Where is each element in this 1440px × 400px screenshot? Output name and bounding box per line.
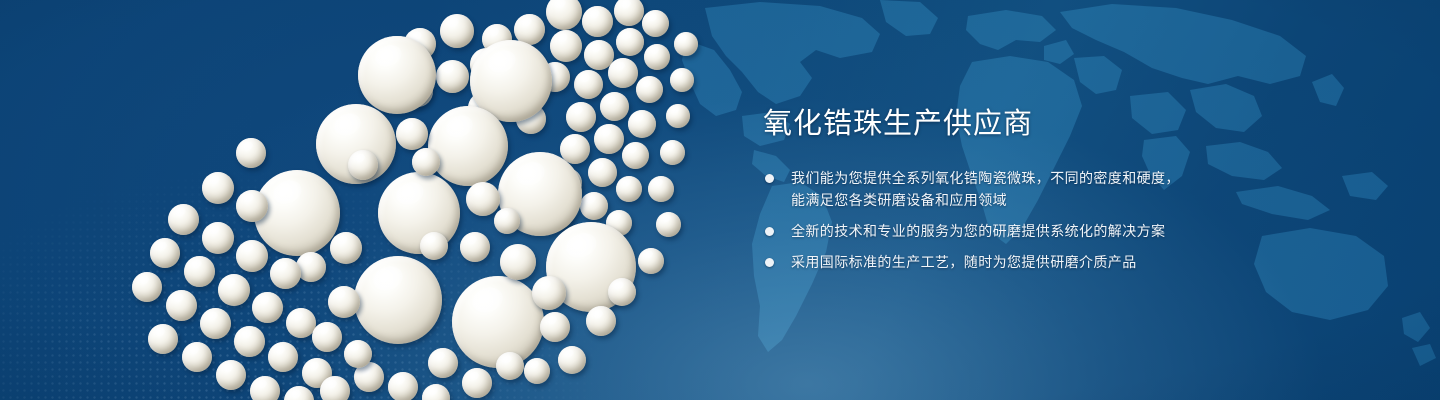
bullet-line: 采用国际标准的生产工艺，随时为您提供研磨介质产品 [791,251,1283,273]
page-title: 氧化锆珠生产供应商 [763,108,1283,141]
dot-bullet-icon [765,174,774,183]
zirconia-beads-product-photo [0,0,740,400]
bullet-line: 全新的技术和专业的服务为您的研磨提供系统化的解决方案 [791,220,1283,242]
feature-bullet-list: 我们能为您提供全系列氧化锆陶瓷微珠，不同的密度和硬度， 能满足您各类研磨设备和应… [763,167,1283,273]
list-item: 我们能为您提供全系列氧化锆陶瓷微珠，不同的密度和硬度， 能满足您各类研磨设备和应… [763,167,1283,211]
dot-bullet-icon [765,227,774,236]
list-item: 采用国际标准的生产工艺，随时为您提供研磨介质产品 [763,251,1283,273]
bullet-line: 我们能为您提供全系列氧化锆陶瓷微珠，不同的密度和硬度， [791,167,1283,189]
dot-bullet-icon [765,258,774,267]
hero-banner: 氧化锆珠生产供应商 我们能为您提供全系列氧化锆陶瓷微珠，不同的密度和硬度， 能满… [0,0,1440,400]
bullet-line: 能满足您各类研磨设备和应用领域 [791,189,1283,211]
banner-text-block: 氧化锆珠生产供应商 我们能为您提供全系列氧化锆陶瓷微珠，不同的密度和硬度， 能满… [763,108,1283,273]
list-item: 全新的技术和专业的服务为您的研磨提供系统化的解决方案 [763,220,1283,242]
